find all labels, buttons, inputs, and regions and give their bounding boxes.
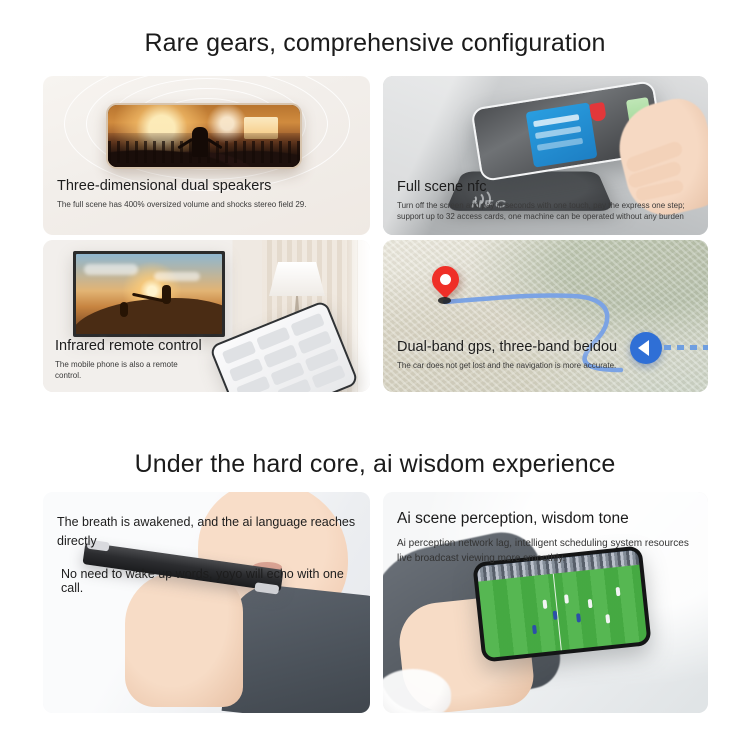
navigation-arrow-icon: [630, 332, 662, 364]
card-title-speakers: Three-dimensional dual speakers: [57, 177, 306, 195]
card-title-gps: Dual-band gps, three-band beidou: [397, 338, 617, 356]
card-title-voice: The breath is awakened, and the ai langu…: [57, 513, 357, 551]
shirt: [222, 582, 370, 713]
card-title-nfc: Full scene nfc: [397, 178, 687, 196]
voice-text-block: The breath is awakened, and the ai langu…: [57, 513, 357, 595]
lamp-shade: [269, 262, 325, 296]
section-heading-ai-wisdom: Under the hard core, ai wisdom experienc…: [0, 450, 750, 479]
infrared-text-block: Infrared remote control The mobile phone…: [55, 337, 202, 382]
speakers-text-block: Three-dimensional dual speakers The full…: [57, 177, 306, 210]
feature-card-nfc[interactable]: NFC Full scene nfc Turn off the screen a…: [383, 76, 708, 235]
card-desc-nfc: Turn off the screen and pay in seconds w…: [397, 200, 687, 223]
card-desc-speakers: The full scene has 400% oversized volume…: [57, 199, 306, 210]
card-desc-ai-scene: Ai perception network lag, intelligent s…: [397, 537, 692, 566]
pin-shadow: [438, 297, 451, 304]
gps-text-block: Dual-band gps, three-band beidou The car…: [397, 338, 617, 371]
card-desc-voice: No need to wake up words, yoyo will echo…: [57, 567, 357, 595]
ai-scene-text-block: Ai scene perception, wisdom tone Ai perc…: [397, 510, 692, 566]
nfc-text-block: Full scene nfc Turn off the screen and p…: [397, 178, 687, 223]
feature-card-ai-scene[interactable]: Ai scene perception, wisdom tone Ai perc…: [383, 492, 708, 713]
promo-page: Rare gears, comprehensive configuration …: [0, 0, 750, 750]
card-desc-gps: The car does not get lost and the naviga…: [397, 360, 617, 371]
feature-card-speakers[interactable]: Three-dimensional dual speakers The full…: [43, 76, 370, 235]
television-image: [73, 251, 225, 337]
card-title-infrared: Infrared remote control: [55, 337, 202, 355]
section-heading-configuration: Rare gears, comprehensive configuration: [0, 29, 750, 58]
feature-card-gps[interactable]: Dual-band gps, three-band beidou The car…: [383, 240, 708, 392]
card-title-ai-scene: Ai scene perception, wisdom tone: [397, 510, 692, 528]
phone-concert-image: [106, 103, 302, 169]
route-dashes: [664, 345, 708, 350]
feature-card-infrared[interactable]: Infrared remote control The mobile phone…: [43, 240, 370, 392]
feature-card-voice-wake[interactable]: The breath is awakened, and the ai langu…: [43, 492, 370, 713]
card-desc-infrared: The mobile phone is also a remote contro…: [55, 359, 185, 382]
